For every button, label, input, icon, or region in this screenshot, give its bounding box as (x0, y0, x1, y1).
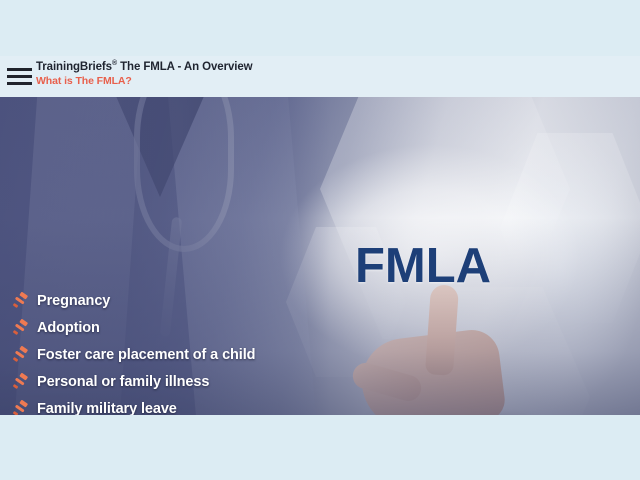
list-item: Adoption (12, 314, 255, 341)
player-header: TrainingBriefs® The FMLA - An Overview W… (0, 56, 640, 97)
gavel-icon (12, 346, 29, 363)
list-item-label: Personal or family illness (37, 374, 209, 390)
lesson-title: What is The FMLA? (36, 76, 253, 87)
course-title-brand: TrainingBriefs (36, 61, 112, 73)
hamburger-line (7, 82, 32, 85)
bullet-list: Pregnancy Adoption Foster care placement… (12, 287, 255, 415)
list-item-label: Pregnancy (37, 293, 110, 309)
list-item: Personal or family illness (12, 368, 255, 395)
course-title-rest: The FMLA - An Overview (117, 61, 253, 73)
list-item-label: Family military leave (37, 401, 177, 416)
list-item: Family military leave (12, 395, 255, 415)
gavel-icon (12, 292, 29, 309)
hamburger-line (7, 75, 32, 78)
player-footer-area (0, 415, 640, 480)
list-item-label: Foster care placement of a child (37, 347, 255, 363)
course-title: TrainingBriefs® The FMLA - An Overview (36, 61, 253, 73)
gavel-icon (12, 319, 29, 336)
list-item: Pregnancy (12, 287, 255, 314)
list-item: Foster care placement of a child (12, 341, 255, 368)
slide-canvas: FMLA Pregnancy Adoption (0, 97, 640, 415)
gavel-icon (12, 373, 29, 390)
course-player-window: TrainingBriefs® The FMLA - An Overview W… (0, 0, 640, 480)
slide-heading: FMLA (355, 238, 491, 294)
hamburger-line (7, 68, 32, 71)
hamburger-menu-icon[interactable] (7, 65, 32, 88)
gavel-icon (12, 400, 29, 415)
list-item-label: Adoption (37, 320, 100, 336)
header-title-block: TrainingBriefs® The FMLA - An Overview W… (36, 61, 253, 87)
